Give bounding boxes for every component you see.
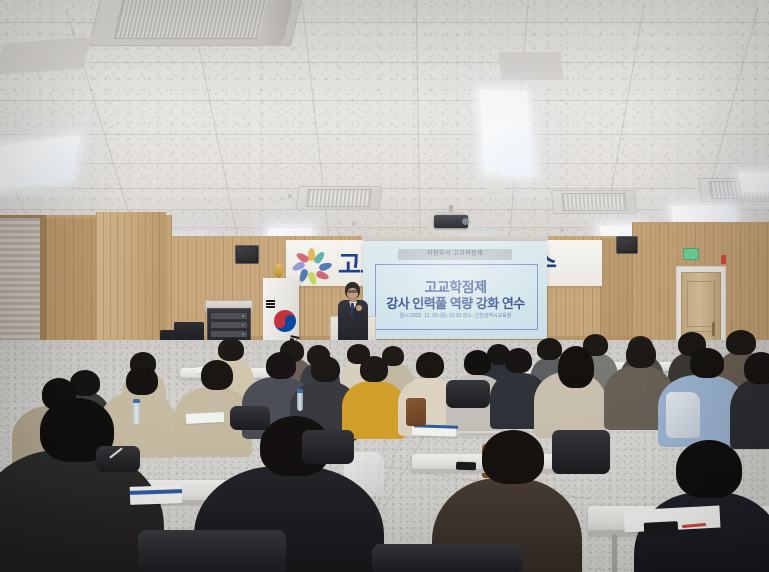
bottle-cap xyxy=(297,389,303,393)
ceiling-light-frame xyxy=(499,52,564,80)
table-leg xyxy=(612,534,617,572)
sprinkler-head xyxy=(352,222,356,226)
water-bottle xyxy=(133,402,140,424)
ceiling-ac-unit xyxy=(296,186,383,210)
ceiling-ac-unit xyxy=(551,190,637,214)
exit-sign-icon xyxy=(683,248,699,260)
water-bottle xyxy=(297,392,303,411)
smartphone[interactable] xyxy=(644,521,679,536)
fire-alarm-icon xyxy=(721,255,726,264)
bottle-cap xyxy=(133,399,140,403)
ceiling-cross-line xyxy=(0,209,769,210)
trigram-mark xyxy=(266,300,275,307)
left-wall-slat-panel xyxy=(46,218,98,358)
ceiling-cross-line xyxy=(0,163,769,164)
taegeuk-symbol xyxy=(272,308,298,334)
presenter-at-front xyxy=(337,282,371,344)
ceiling-light-panel xyxy=(479,89,533,176)
plastic-bag xyxy=(666,392,700,438)
slide-header-text: 지원부서 고교학점제 xyxy=(398,249,512,260)
sprinkler-head xyxy=(560,228,564,232)
slide-header-band: 지원부서 고교학점제 xyxy=(398,249,512,260)
smartphone[interactable] xyxy=(456,462,476,471)
handout-paper xyxy=(130,485,183,505)
slide-title-line2: 강사 인력풀 역량 강화 연수 xyxy=(375,293,536,312)
presenter-hand xyxy=(356,305,362,311)
chair[interactable] xyxy=(372,544,522,572)
ceiling-cross-line xyxy=(0,62,769,63)
handout-paper xyxy=(186,412,224,424)
window-blinds-left xyxy=(0,218,40,340)
wall-speaker-left xyxy=(235,245,259,264)
door-handle[interactable] xyxy=(712,322,715,336)
ceiling-cross-line xyxy=(0,188,769,189)
glasses-icon xyxy=(347,290,358,293)
chair[interactable] xyxy=(230,406,270,430)
chair[interactable] xyxy=(138,530,286,572)
ceiling-cross-line xyxy=(0,134,769,135)
seminar-room-photo: 고교 연수 지원부서 고교학점제 고교학점제 강사 인력풀 역량 강화 연수 일… xyxy=(0,0,769,572)
wall-speaker-right xyxy=(616,236,638,254)
chair[interactable] xyxy=(552,430,610,474)
flag-finial xyxy=(274,264,283,277)
sprinkler-head xyxy=(288,194,292,198)
slide-subtitle: 일시 2025. 12. 00.(목) 15:30 장소. 인천광역시교육청 xyxy=(375,312,536,319)
leather-bag xyxy=(406,398,426,426)
chair[interactable] xyxy=(302,430,354,464)
ceiling-cross-line xyxy=(0,100,769,101)
ceiling-light-panel xyxy=(738,172,769,192)
petal-flower-logo xyxy=(292,248,336,282)
projector-lens xyxy=(462,218,469,225)
chair[interactable] xyxy=(446,380,490,408)
